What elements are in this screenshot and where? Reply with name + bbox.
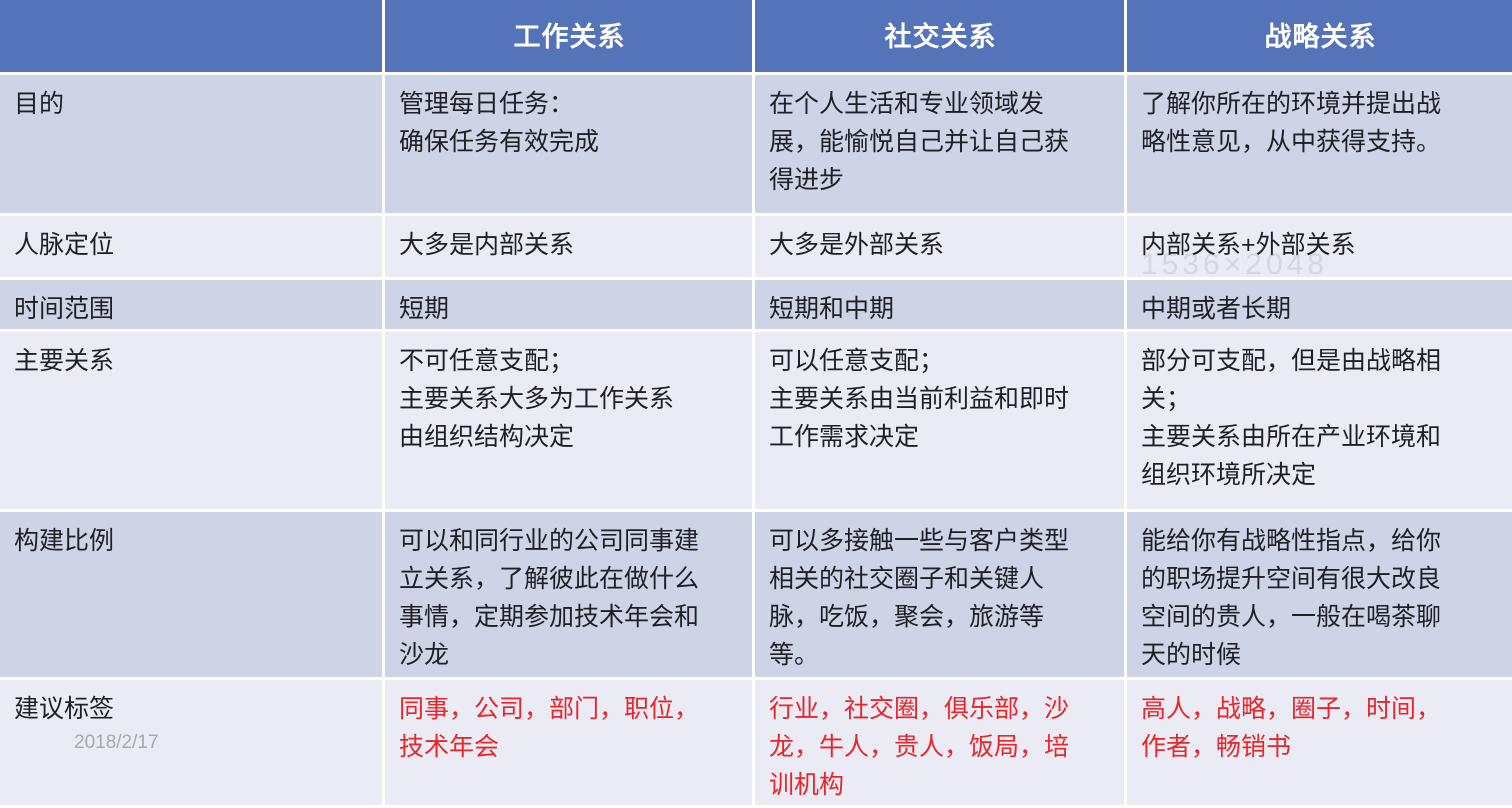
- table-row: 建议标签 2018/2/17 同事，公司，部门，职位， 技术年会 行业，社交圈，…: [0, 680, 1512, 808]
- row-value-cell-work: 同事，公司，部门，职位， 技术年会: [385, 680, 755, 805]
- cell-text: 高人，战略，圈子，时间， 作者，畅销书: [1141, 695, 1441, 761]
- row-value-cell-work: 可以和同行业的公司同事建 立关系，了解彼此在做什么 事情，定期参加技术年会和 沙…: [385, 512, 755, 677]
- row-value-cell-social: 在个人生活和专业领域发 展，能愉悦自己并让自己获 得进步: [755, 75, 1127, 213]
- comparison-table: 工作关系 社交关系 战略关系 目的 管理每日任务： 确保任务有效完成 在个人生活…: [0, 0, 1512, 808]
- row-value-cell-social: 可以多接触一些与客户类型 相关的社交圈子和关键人 脉，吃饭，聚会，旅游等 等。: [755, 512, 1127, 677]
- header-column-social: 社交关系: [755, 0, 1127, 72]
- cell-text: 中期或者长期: [1141, 295, 1291, 323]
- row-value-cell-social: 短期和中期: [755, 280, 1127, 329]
- row-label: 目的: [14, 90, 64, 118]
- row-label-cell: 建议标签 2018/2/17: [0, 680, 385, 805]
- cell-text: 短期和中期: [769, 295, 894, 323]
- row-value-cell-social: 可以任意支配； 主要关系由当前利益和即时 工作需求决定: [755, 332, 1127, 509]
- row-label: 人脉定位: [14, 231, 114, 259]
- cell-text: 可以和同行业的公司同事建 立关系，了解彼此在做什么 事情，定期参加技术年会和 沙…: [399, 527, 699, 669]
- cell-text: 大多是内部关系: [399, 231, 574, 259]
- table-row: 构建比例 可以和同行业的公司同事建 立关系，了解彼此在做什么 事情，定期参加技术…: [0, 512, 1512, 680]
- row-value-cell-work: 大多是内部关系: [385, 216, 755, 277]
- cell-text: 在个人生活和专业领域发 展，能愉悦自己并让自己获 得进步: [769, 90, 1069, 194]
- cell-text: 管理每日任务： 确保任务有效完成: [399, 90, 599, 156]
- row-value-cell-strategic: 中期或者长期: [1127, 280, 1512, 329]
- row-value-cell-strategic: 能给你有战略性指点，给你 的职场提升空间有很大改良 空间的贵人，一般在喝茶聊 天…: [1127, 512, 1512, 677]
- cell-text: 部分可支配，但是由战略相 关； 主要关系由所在产业环境和 组织环境所决定: [1141, 347, 1441, 489]
- date-stamp: 2018/2/17: [74, 732, 159, 754]
- cell-text: 短期: [399, 295, 449, 323]
- row-label-cell: 构建比例: [0, 512, 385, 677]
- row-value-cell-work: 短期: [385, 280, 755, 329]
- row-label: 时间范围: [14, 295, 114, 323]
- cell-text: 可以多接触一些与客户类型 相关的社交圈子和关键人 脉，吃饭，聚会，旅游等 等。: [769, 527, 1069, 669]
- row-label-cell: 主要关系: [0, 332, 385, 509]
- cell-text: 可以任意支配； 主要关系由当前利益和即时 工作需求决定: [769, 347, 1069, 451]
- header-column-strategic: 战略关系: [1127, 0, 1512, 72]
- cell-text: 行业，社交圈，俱乐部，沙 龙，牛人，贵人，饭局，培 训机构: [769, 695, 1069, 799]
- row-value-cell-strategic: 高人，战略，圈子，时间， 作者，畅销书: [1127, 680, 1512, 805]
- table-row: 主要关系 不可任意支配； 主要关系大多为工作关系 由组织结构决定 可以任意支配；…: [0, 332, 1512, 512]
- table-row: 时间范围 短期 短期和中期 中期或者长期: [0, 280, 1512, 332]
- table-header-row: 工作关系 社交关系 战略关系: [0, 0, 1512, 75]
- table-row: 人脉定位 大多是内部关系 大多是外部关系 1536×2048 内部关系+外部关系: [0, 216, 1512, 280]
- row-value-cell-social: 行业，社交圈，俱乐部，沙 龙，牛人，贵人，饭局，培 训机构: [755, 680, 1127, 805]
- row-value-cell-work: 管理每日任务： 确保任务有效完成: [385, 75, 755, 213]
- cell-text: 同事，公司，部门，职位， 技术年会: [399, 695, 699, 761]
- cell-text: 能给你有战略性指点，给你 的职场提升空间有很大改良 空间的贵人，一般在喝茶聊 天…: [1141, 527, 1441, 669]
- header-column-work: 工作关系: [385, 0, 755, 72]
- row-label-cell: 目的: [0, 75, 385, 213]
- row-label: 构建比例: [14, 527, 114, 555]
- cell-text: 大多是外部关系: [769, 231, 944, 259]
- table-row: 目的 管理每日任务： 确保任务有效完成 在个人生活和专业领域发 展，能愉悦自己并…: [0, 75, 1512, 216]
- row-label: 建议标签: [14, 695, 114, 723]
- row-value-cell-strategic: 部分可支配，但是由战略相 关； 主要关系由所在产业环境和 组织环境所决定: [1127, 332, 1512, 509]
- row-value-cell-work: 不可任意支配； 主要关系大多为工作关系 由组织结构决定: [385, 332, 755, 509]
- header-corner-cell: [0, 0, 385, 72]
- row-label: 主要关系: [14, 347, 114, 375]
- row-value-cell-strategic: 了解你所在的环境并提出战 略性意见，从中获得支持。: [1127, 75, 1512, 213]
- row-label-cell: 人脉定位: [0, 216, 385, 277]
- cell-text: 内部关系+外部关系: [1141, 231, 1356, 259]
- row-value-cell-social: 大多是外部关系: [755, 216, 1127, 277]
- cell-text: 不可任意支配； 主要关系大多为工作关系 由组织结构决定: [399, 347, 674, 451]
- row-label-cell: 时间范围: [0, 280, 385, 329]
- cell-text: 了解你所在的环境并提出战 略性意见，从中获得支持。: [1141, 90, 1441, 156]
- row-value-cell-strategic: 1536×2048 内部关系+外部关系: [1127, 216, 1512, 277]
